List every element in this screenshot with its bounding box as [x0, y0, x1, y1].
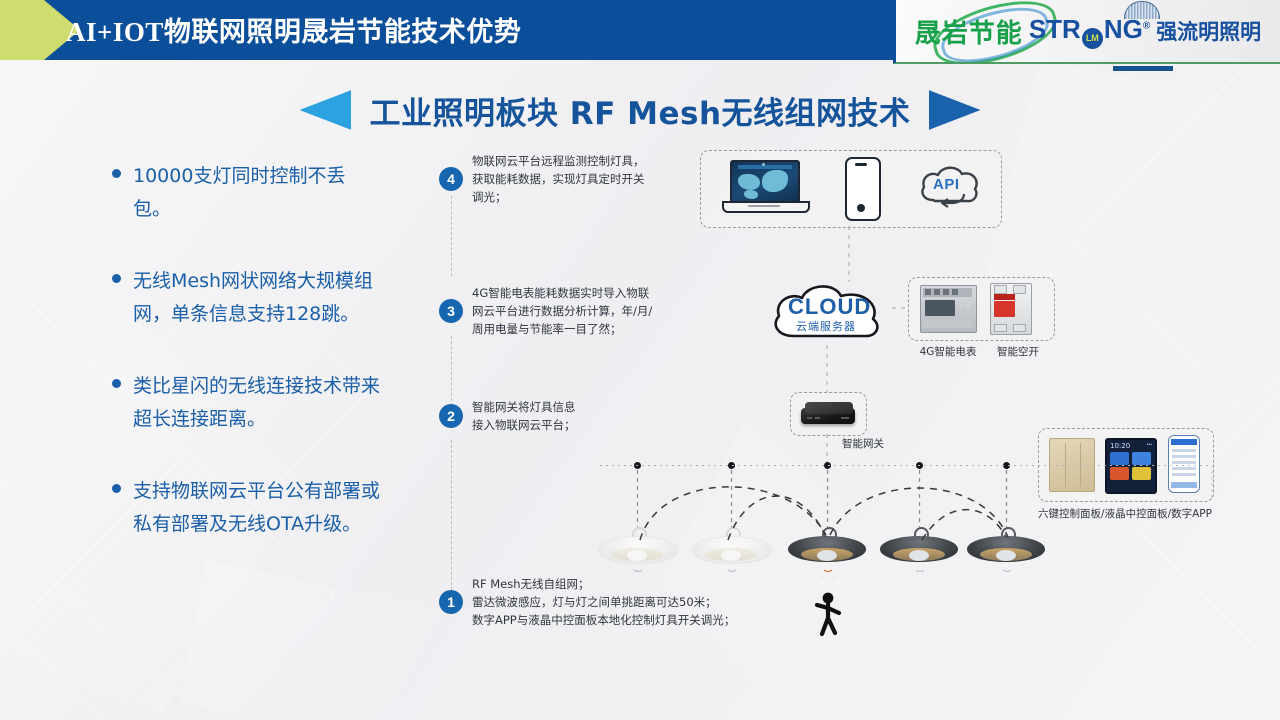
cloud-sublabel: 云端服务器 — [796, 318, 856, 334]
sensor-waves-active-icon — [810, 560, 844, 577]
highbay-lamp-icon-4 — [880, 527, 958, 573]
triangle-left-icon — [299, 90, 351, 130]
person-icon — [812, 592, 842, 643]
gateway-icon — [801, 400, 855, 426]
smart-meter-icon — [920, 285, 975, 331]
highbay-lamp-icon-5 — [967, 527, 1045, 573]
bullet-text: 支持物联网云平台公有部署或私有部署及无线OTA升级。 — [133, 475, 382, 541]
panel-caption: 六键控制面板/液晶中控面板/数字APP — [1038, 506, 1212, 521]
step-text: 4G智能电表能耗数据实时导入物联 网云平台进行数据分析计算，年/月/ 周用电量与… — [472, 284, 652, 338]
step-number: 3 — [439, 299, 463, 323]
list-item: 支持物联网云平台公有部署或私有部署及无线OTA升级。 — [112, 475, 382, 541]
sensor-waves-icon — [620, 560, 654, 577]
bullet-dot-icon — [112, 274, 121, 283]
sensor-waves-icon — [989, 560, 1023, 577]
mesh-node-2 — [728, 462, 735, 469]
step-note-3: 3 4G智能电表能耗数据实时导入物联 网云平台进行数据分析计算，年/月/ 周用电… — [439, 284, 652, 338]
meter-caption: 4G智能电表 — [906, 344, 990, 359]
highbay-lamp-icon-3 — [788, 527, 866, 573]
step-text: RF Mesh无线自组网； 雷达微波感应，灯与灯之间单挑距离可达50米； 数字A… — [472, 575, 735, 629]
section-title: 工业照明板块 RF Mesh无线组网技术 — [369, 88, 910, 133]
step-spine-3 — [451, 440, 452, 595]
sensor-waves-icon — [714, 560, 748, 577]
triangle-right-icon — [929, 90, 981, 130]
laptop-icon — [722, 160, 806, 216]
header-accent-underline — [1113, 66, 1173, 71]
step-text: 智能网关将灯具信息 接入物联网云平台； — [472, 398, 576, 434]
step-note-2: 2 智能网关将灯具信息 接入物联网云平台； — [439, 398, 576, 434]
step-note-4: 4 物联网云平台远程监测控制灯具， 获取能耗数据，实现灯具定时开关 调光； — [439, 152, 645, 206]
section-title-row: 工业照明板块 RF Mesh无线组网技术 — [0, 86, 1280, 134]
list-item: 类比星闪的无线连接技术带来超长连接距离。 — [112, 370, 382, 436]
sensor-waves-icon — [902, 560, 936, 577]
bullet-text: 类比星闪的无线连接技术带来超长连接距离。 — [133, 370, 382, 436]
smart-breaker-icon — [990, 283, 1030, 333]
step-number: 4 — [439, 167, 463, 191]
list-item: 10000支灯同时控制不丢包。 — [112, 160, 382, 226]
mesh-node-5 — [1003, 462, 1010, 469]
mesh-node-4 — [916, 462, 923, 469]
brand-logo: 晟岩节能 STRLMNG® 强流明照明 — [893, 0, 1280, 64]
breaker-caption: 智能空开 — [984, 344, 1052, 359]
bullet-dot-icon — [112, 484, 121, 493]
slide-canvas: AI+IOT物联网照明晟岩节能技术优势 晟岩节能 STRLMNG® 强流明照明 … — [0, 0, 1280, 720]
brand-name-cn: 晟岩节能 — [915, 13, 1023, 50]
bullet-text: 10000支灯同时控制不丢包。 — [133, 160, 382, 226]
step-number: 2 — [439, 404, 463, 428]
app-phone-icon — [1168, 435, 1198, 491]
step-spine-1 — [451, 196, 452, 276]
step-spine-2 — [451, 336, 452, 406]
cloud-icon: CLOUD 云端服务器 — [768, 280, 894, 342]
step-note-1: 1 RF Mesh无线自组网； 雷达微波感应，灯与灯之间单挑距离可达50米； 数… — [439, 575, 735, 629]
mesh-node-3 — [824, 462, 831, 469]
list-item: 无线Mesh网状网络大规模组网，单条信息支持128跳。 — [112, 265, 382, 331]
gateway-caption: 智能网关 — [832, 436, 894, 451]
step-number: 1 — [439, 590, 463, 614]
smartphone-icon — [845, 157, 877, 217]
brand-name-en: STRLMNG® — [1029, 14, 1150, 49]
mesh-node-1 — [634, 462, 641, 469]
highbay-lamp-icon-2 — [692, 527, 770, 573]
api-cloud-icon: API — [917, 160, 983, 210]
step-text: 物联网云平台远程监测控制灯具， 获取能耗数据，实现灯具定时开关 调光； — [472, 152, 645, 206]
cloud-label: CLOUD — [788, 294, 871, 320]
api-label: API — [933, 176, 960, 193]
page-title: AI+IOT物联网照明晟岩节能技术优势 — [66, 10, 521, 49]
wall-panel-icon — [1049, 438, 1093, 490]
registered-mark: ® — [1143, 20, 1150, 31]
bullet-dot-icon — [112, 379, 121, 388]
bullet-dot-icon — [112, 169, 121, 178]
feature-bullet-list: 10000支灯同时控制不丢包。 无线Mesh网状网络大规模组网，单条信息支持12… — [112, 160, 382, 580]
brand-tagline-cn: 强流明照明 — [1156, 16, 1261, 46]
lcd-panel-icon: 10:20 ••• — [1105, 438, 1153, 490]
bullet-text: 无线Mesh网状网络大规模组网，单条信息支持128跳。 — [133, 265, 382, 331]
brand-o-mark: LM — [1082, 28, 1103, 49]
highbay-lamp-icon-1 — [598, 527, 676, 573]
